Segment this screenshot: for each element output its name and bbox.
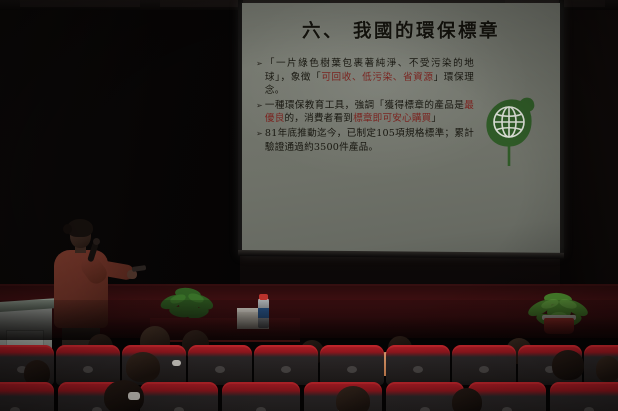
slide-title: 六、 我國的環保標章 [242,17,560,43]
audience-head [126,352,160,382]
theater-seat[interactable] [550,382,618,411]
theater-seat[interactable] [0,382,54,411]
green-mark-leaf-globe-icon [478,95,540,169]
bullet-segment: 81年底推動迄今，已制定105項規格標準；累計驗證通過約3500件產品。 [265,128,474,153]
bullet-segment: 」 [431,113,441,124]
theater-seat[interactable] [140,382,218,411]
bullet-arrow-icon: ➢ [256,127,263,141]
presenter-hair-bun [63,224,72,234]
slide-bullet-text: 一種環保教育工具，強調「獲得標章的產品是最優良的，消費者看到標章即可安心購買」 [265,99,474,126]
theater-seat[interactable] [188,345,252,385]
theater-seat[interactable] [452,345,516,385]
hair-clip [128,392,140,400]
audience-head [596,356,618,382]
bullet-segment: 的，消費者看到 [285,113,354,124]
bullet-segment: 一種環保教育工具，強調「獲得標章的產品是 [265,100,464,111]
slide-bullet-text: 81年底推動迄今，已制定105項規格標準；累計驗證通過約3500件產品。 [265,127,474,154]
audience-head [336,386,370,411]
bullet-arrow-icon: ➢ [256,57,263,71]
slide-bullet-text: 「一片綠色樹葉包裹著純淨、不受污染的地球」，象徵「可回收、低污染、省資源」環保理… [265,57,474,98]
theater-seat[interactable] [386,345,450,385]
slide-bullet: ➢ 「一片綠色樹葉包裹著純淨、不受污染的地球」，象徵「可回收、低污染、省資源」環… [256,57,474,98]
bullet-segment-highlight: 可回收、低污染、省資源 [321,72,433,83]
right-wall [560,0,618,290]
hair-clip [172,360,181,366]
bullet-segment-highlight: 標章即可安心購買 [353,113,431,124]
theater-seat[interactable] [254,345,318,385]
theater-seat[interactable] [56,345,120,385]
projection-screen: 六、 我國的環保標章 ➢ 「一片綠色樹葉包裹著純淨、不受污染的地球」，象徵「可回… [242,3,560,253]
audience-head [552,350,584,380]
bullet-arrow-icon: ➢ [256,99,263,113]
slide-bullet: ➢ 一種環保教育工具，強調「獲得標章的產品是最優良的，消費者看到標章即可安心購買… [256,99,474,126]
stage-front-shadow [0,300,618,340]
lecture-hall-photo: 六、 我國的環保標章 ➢ 「一片綠色樹葉包裹著純淨、不受污染的地球」，象徵「可回… [0,0,618,411]
slide-bullet-list: ➢ 「一片綠色樹葉包裹著純淨、不受污染的地球」，象徵「可回收、低污染、省資源」環… [256,57,474,155]
theater-seat[interactable] [222,382,300,411]
slide-bullet: ➢ 81年底推動迄今，已制定105項規格標準；累計驗證通過約3500件產品。 [256,127,474,154]
ceiling-beam [20,0,140,7]
microphone-head [93,238,100,245]
audience-head [452,388,482,411]
presentation-slide: 六、 我國的環保標章 ➢ 「一片綠色樹葉包裹著純淨、不受污染的地球」，象徵「可回… [242,3,560,253]
theater-seat[interactable] [320,345,384,385]
